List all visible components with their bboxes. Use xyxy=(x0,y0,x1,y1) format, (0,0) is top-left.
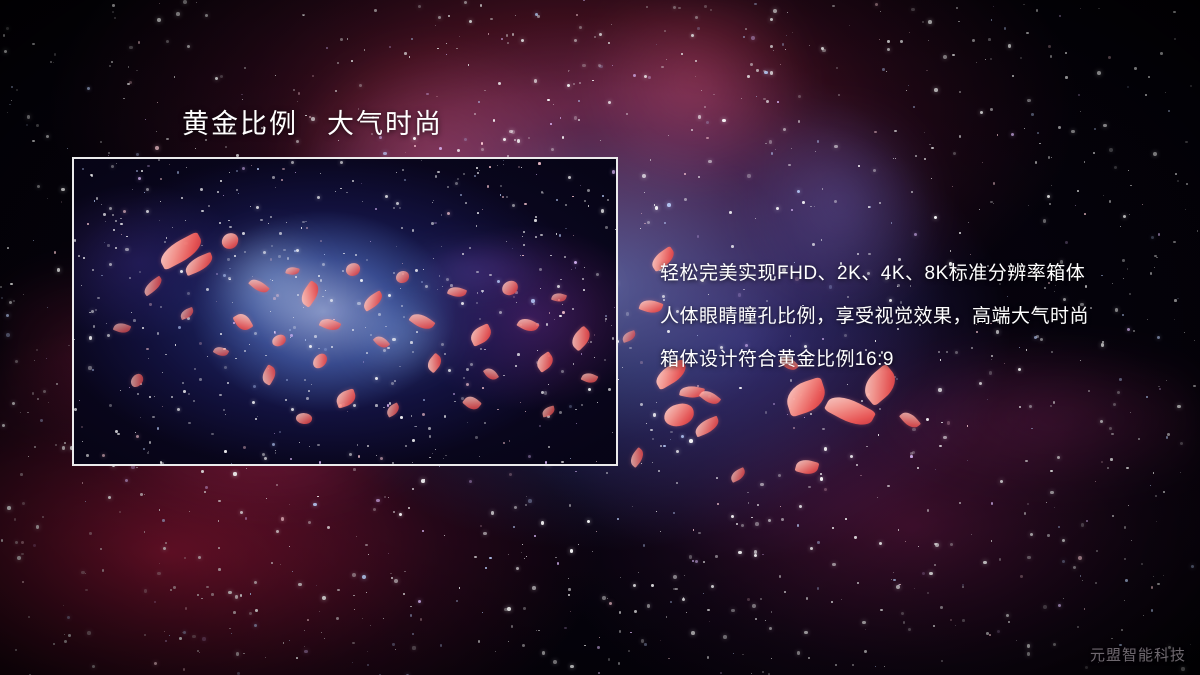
framed-preview-image xyxy=(72,157,618,466)
petal xyxy=(699,387,722,408)
petal xyxy=(285,265,300,276)
petal xyxy=(345,262,360,276)
petal xyxy=(541,405,556,417)
petal xyxy=(501,280,519,297)
petal xyxy=(271,333,287,347)
body-line-2: 人体眼睛瞳孔比例，享受视觉效果，高端大气时尚 xyxy=(660,295,1089,338)
petal xyxy=(447,284,467,300)
petal xyxy=(534,351,557,373)
petal xyxy=(128,372,146,390)
petal xyxy=(795,457,820,476)
petal xyxy=(663,402,696,428)
petal xyxy=(899,408,921,431)
petal xyxy=(551,291,567,304)
body-text-block: 轻松完美实现FHD、2K、4K、8K标准分辨率箱体 人体眼睛瞳孔比例，享受视觉效… xyxy=(660,252,1089,381)
petal xyxy=(424,353,444,374)
petal xyxy=(729,467,748,483)
body-line-3: 箱体设计符合黄金比例16:9 xyxy=(660,338,1089,381)
petal xyxy=(295,411,313,425)
petal xyxy=(179,307,195,320)
petal xyxy=(334,388,358,408)
petal xyxy=(621,330,637,343)
petal xyxy=(568,325,594,351)
watermark-label: 元盟智能科技 xyxy=(1090,644,1186,665)
petal xyxy=(468,323,495,347)
preview-petal-layer xyxy=(74,159,616,464)
petal xyxy=(310,351,330,370)
petal xyxy=(319,315,342,333)
petal xyxy=(483,365,499,382)
petal xyxy=(232,311,253,334)
petal xyxy=(373,333,390,351)
presentation-slide: 黄金比例 大气时尚 轻松完美实现FHD、2K、4K、8K标准分辨率箱体 人体眼睛… xyxy=(0,0,1200,675)
petal xyxy=(384,402,401,417)
petal xyxy=(581,370,599,385)
page-title: 黄金比例 大气时尚 xyxy=(182,102,443,141)
petal xyxy=(782,377,829,418)
petal xyxy=(462,393,482,412)
petal xyxy=(221,232,240,251)
petal xyxy=(141,276,165,297)
petal xyxy=(396,271,409,283)
petal xyxy=(627,447,647,468)
petal xyxy=(360,290,385,311)
petal xyxy=(259,364,278,386)
petal xyxy=(693,416,722,438)
petal xyxy=(248,276,270,297)
petal xyxy=(297,280,322,308)
petal xyxy=(408,309,435,333)
petal xyxy=(516,315,539,335)
body-line-1: 轻松完美实现FHD、2K、4K、8K标准分辨率箱体 xyxy=(660,252,1089,295)
petal xyxy=(213,344,230,359)
petal xyxy=(113,320,132,335)
